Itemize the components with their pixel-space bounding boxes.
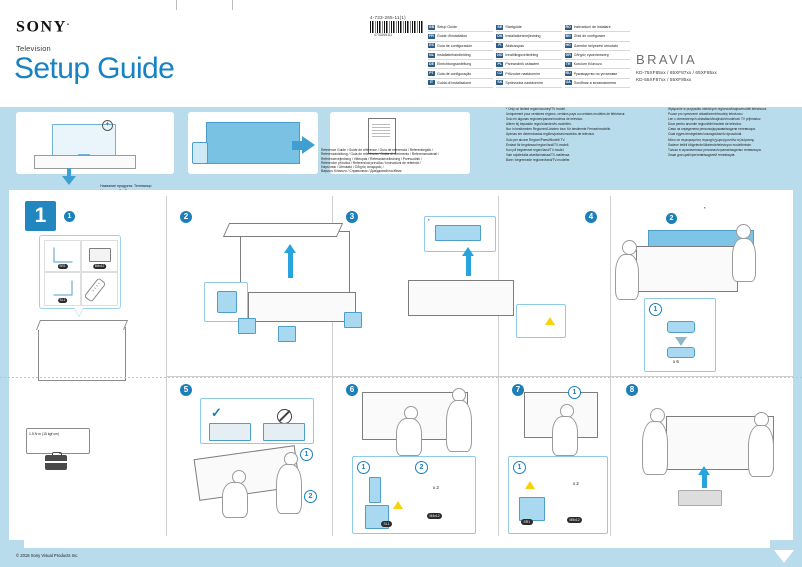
- edge-grip-illustration-bad: [263, 423, 305, 441]
- inset-handling-do-dont: ✓: [200, 398, 314, 444]
- corner-pad: [278, 326, 296, 342]
- dotted-separator: [0, 377, 802, 378]
- language-name: Посібник зі встановлення: [574, 81, 616, 85]
- warning-triangle-icon: [393, 501, 403, 509]
- star-mark-step3: *: [428, 218, 430, 223]
- step-badge-6: 6: [346, 384, 358, 396]
- part-tag: M4x12: [93, 264, 107, 269]
- substep-1-circle: 1: [64, 211, 75, 222]
- footer-white-strip: [24, 540, 770, 548]
- warning-triangle-icon: [545, 317, 555, 325]
- person-body: [615, 254, 639, 300]
- accessory-cell-leg-sr1: SR1: [44, 240, 81, 272]
- language-name: Ghid de configurare: [574, 34, 606, 38]
- language-name: Guide d'installation: [437, 34, 467, 38]
- language-code: NO: [496, 53, 503, 58]
- language-code: SE: [496, 25, 503, 30]
- person-body: [446, 400, 472, 452]
- bravia-wordmark: BRAVIA: [636, 52, 697, 67]
- clip-icon: [667, 347, 695, 358]
- language-code: DK: [496, 34, 503, 39]
- grip-clip-icon: [217, 291, 237, 313]
- language-name: Startguide: [505, 25, 521, 29]
- arrow-right-icon: [302, 136, 315, 154]
- language-row: NLInstallatiehandleiding: [428, 51, 493, 60]
- language-code: ES: [428, 43, 435, 48]
- language-name: Kurulum Kılavuzu: [574, 62, 602, 66]
- column-divider: [498, 196, 499, 536]
- sony-logo: SONY.: [16, 17, 69, 36]
- language-name: Sprievodca nastavením: [505, 81, 543, 85]
- arrow-up-icon-step2: [284, 244, 296, 253]
- language-code: NL: [428, 53, 435, 58]
- screw-count-label-step6: x 2: [433, 485, 439, 490]
- panel-tv-on-cabinet: +: [16, 112, 174, 174]
- substep-1-circle-step7: 1: [568, 386, 581, 399]
- clip-count-label: x 6: [673, 359, 679, 364]
- language-code: PT: [428, 71, 435, 76]
- person-body: [276, 464, 302, 514]
- substep-2-circle-step4: 2: [666, 213, 677, 224]
- language-row: PLPrzewodnik ustawień: [496, 60, 561, 69]
- language-row: TRKurulum Kılavuzu: [565, 60, 630, 69]
- language-row: HGÜzembe helyezési útmutató: [565, 42, 630, 51]
- language-code: CZ: [496, 71, 503, 76]
- substep-3-circle-step7: 1: [513, 461, 526, 474]
- language-name: Installatiehandleiding: [437, 53, 471, 57]
- accessory-cell-remote: [81, 272, 118, 306]
- model-line-1: KD-75XF85xx / 65XF87xx / 65XF85xx: [636, 69, 717, 76]
- language-name: Setup Guide: [437, 25, 457, 29]
- language-code: HG: [565, 43, 572, 48]
- toolbox-icon: [45, 455, 67, 470]
- language-code: RO: [565, 25, 572, 30]
- screw-pack-icon: [89, 248, 111, 262]
- column-divider: [166, 196, 167, 536]
- language-code: UA: [565, 80, 572, 85]
- stand-leg-icon: [369, 477, 381, 503]
- tv-rear-step4: [636, 246, 738, 292]
- substep-1-circle-step4: 1: [649, 303, 662, 316]
- prohibited-icon: [277, 409, 292, 424]
- setup-guide-page: SONY. Television Setup Guide 4-733-265-1…: [0, 0, 802, 567]
- language-name: Guida di installazione: [437, 81, 471, 85]
- step-badge-1: 1: [25, 201, 56, 231]
- language-row: ESGuía de configuración: [428, 42, 493, 51]
- protective-sheet-icon: [435, 225, 481, 241]
- crop-mark-right: [232, 0, 233, 10]
- clip-icon: [667, 321, 695, 333]
- language-name: Einrichtungsanleitung: [437, 62, 471, 66]
- substep-2-circle-step5: 2: [304, 490, 317, 503]
- language-code: BG: [565, 34, 572, 39]
- person-body: [552, 416, 578, 456]
- person-body: [748, 425, 774, 477]
- part-tag: SL1: [58, 298, 68, 303]
- language-row: FIAloitusopas: [496, 42, 561, 51]
- language-row: DKInstallationsvejledning: [496, 32, 561, 41]
- language-code: IT: [428, 80, 435, 85]
- language-name: Przewodnik ustawień: [505, 62, 539, 66]
- language-name: Instrucțiuni de instalare: [574, 25, 611, 29]
- corner-pad: [344, 312, 362, 328]
- checkmark-icon: ✓: [211, 405, 222, 421]
- language-name: Üzembe helyezési útmutató: [574, 44, 618, 48]
- model-numbers: KD-75XF85xx / 65XF87xx / 65XF85xx KD-55X…: [636, 69, 717, 83]
- edge-grip-illustration: [209, 423, 251, 441]
- step-badge-3: 3: [346, 211, 358, 223]
- language-row: ITGuida di installazione: [428, 79, 493, 88]
- stand-leg-icon: [53, 247, 72, 262]
- language-row: ROInstrucțiuni de instalare: [565, 23, 630, 32]
- callout-tail: [74, 307, 84, 316]
- carton-step2: [240, 231, 350, 301]
- language-row: UAПосібник зі встановлення: [565, 79, 630, 88]
- language-code: FI: [496, 43, 503, 48]
- remote-control-icon: [84, 277, 107, 302]
- language-column-1: GBSetup Guide FRGuide d'installation ESG…: [428, 23, 493, 88]
- language-table: GBSetup Guide FRGuide d'installation ESG…: [428, 23, 630, 88]
- foam-pad-step8: [678, 490, 722, 506]
- language-name: Innstillingsveiledning: [505, 53, 538, 57]
- barcode-number: 4733265111: [374, 33, 392, 37]
- part-tag: SR1: [57, 264, 67, 269]
- barcode-icon: [370, 21, 424, 33]
- language-code: RU: [565, 71, 572, 76]
- language-row: PTGuia de configuração: [428, 69, 493, 78]
- carton-illustration: [38, 327, 126, 381]
- arrow-up-stem-step2: [288, 252, 293, 278]
- person-body: [222, 482, 248, 518]
- inset-tilt-warning: [516, 304, 566, 338]
- arrow-down-icon-step4: [675, 337, 687, 346]
- star-mark-step4: *: [704, 206, 706, 211]
- substep-2-circle-step6: 2: [415, 461, 428, 474]
- language-row: FRGuide d'installation: [428, 32, 493, 41]
- language-name: Installationsvejledning: [505, 34, 540, 38]
- language-row: RUРуководство по установке: [565, 69, 630, 78]
- step-badge-8: 8: [626, 384, 638, 396]
- language-row: SKSprievodca nastavením: [496, 79, 561, 88]
- language-code: TR: [565, 62, 572, 67]
- crop-mark-left: [176, 0, 177, 10]
- screw-count-label-step7: x 2: [573, 481, 579, 486]
- torque-note-text: 1.5 N·m (15 kgf·cm): [29, 432, 85, 437]
- cabinet-illustration: [34, 155, 136, 169]
- step-badge-7: 7: [512, 384, 524, 396]
- carton-flap: [36, 320, 128, 330]
- substep-1-circle-step5: 1: [300, 448, 313, 461]
- language-name: Aloitusopas: [505, 44, 524, 48]
- page-turn-arrow-icon: [774, 550, 794, 563]
- tv-rear-step2: [248, 292, 356, 322]
- stand-leg-icon: [519, 497, 545, 521]
- person-body: [396, 418, 422, 456]
- tv-blue-illustration: [206, 122, 300, 164]
- language-row: GRΟδηγός εγκατάστασης: [565, 51, 630, 60]
- model-line-2: KD-55XF87xx / 55XF85xx: [636, 76, 717, 83]
- accessory-cell-screws: M4x12: [81, 240, 118, 272]
- language-row: DEEinrichtungsanleitung: [428, 60, 493, 69]
- note-languages-left: * Only on limited region/country/TV mode…: [506, 107, 666, 163]
- person-head: [622, 240, 637, 255]
- person-body: [732, 238, 756, 282]
- page-title: Setup Guide: [14, 52, 174, 86]
- tv-rear-step3: [408, 280, 514, 316]
- note-languages-right: Wyłącznie w przypadku niektórych regionó…: [668, 107, 800, 158]
- step-badge-5: 5: [180, 384, 192, 396]
- language-code: DE: [428, 62, 435, 67]
- step-badge-2: 2: [180, 211, 192, 223]
- language-code: SK: [496, 80, 503, 85]
- language-name: Οδηγός εγκατάστασης: [574, 53, 610, 57]
- person-head: [736, 224, 751, 239]
- language-column-3: ROInstrucțiuni de instalare BGGhid de co…: [565, 23, 630, 88]
- plant-icon: [192, 142, 208, 164]
- column-divider: [610, 196, 611, 536]
- language-row: CZPrůvodce nastavením: [496, 69, 561, 78]
- part-tag-m4x12: M4x12: [427, 513, 442, 519]
- language-row: NOInnstillingsveiledning: [496, 51, 561, 60]
- language-row: SEStartguide: [496, 23, 561, 32]
- inset-hand-grip-step2: [204, 282, 248, 322]
- warning-triangle-icon: [525, 481, 535, 489]
- plus-icon: +: [102, 120, 113, 131]
- accessory-box: SR1 M4x12 SL1: [39, 235, 121, 309]
- language-name: Guia de configuração: [437, 72, 471, 76]
- language-row: BGGhid de configurare: [565, 32, 630, 41]
- inset-leg-attach-step6: 1 2 SL1 x 2 M4x12: [352, 456, 476, 534]
- part-number: 4-733-265-11(1): [370, 15, 406, 20]
- language-code: PL: [496, 62, 503, 67]
- arrow-up-icon-step3: [462, 247, 474, 256]
- stand-leg-icon: [53, 280, 72, 295]
- person-body: [642, 421, 668, 475]
- arrow-up-icon-step8: [698, 466, 710, 475]
- language-name: Руководство по установке: [574, 72, 618, 76]
- inset-remove-sheet: [424, 216, 496, 252]
- language-code: GR: [565, 53, 572, 58]
- side-band-right: [793, 190, 802, 540]
- part-tag-sr1: SR1: [521, 519, 533, 525]
- inset-clip-detail-step4: 1 x 6: [644, 298, 716, 372]
- language-name: Guía de configuración: [437, 44, 472, 48]
- corner-pad: [238, 318, 256, 334]
- part-tag-sl1: SL1: [381, 521, 392, 527]
- language-code: FR: [428, 34, 435, 39]
- language-code: GB: [428, 25, 435, 30]
- step-badge-4: 4: [585, 211, 597, 223]
- language-name: Průvodce nastavením: [505, 72, 540, 76]
- arrow-up-stem-step3: [466, 254, 471, 276]
- language-column-2: SEStartguide DKInstallationsvejledning F…: [496, 23, 561, 88]
- substep-1-circle-step6: 1: [357, 461, 370, 474]
- carton-lid-step2: [223, 223, 343, 237]
- accessory-cell-leg-sl1: SL1: [44, 272, 81, 306]
- inset-leg-attach-step7: 1 SR1 x 2 M5x12: [508, 456, 608, 534]
- copyright-text: © 2018 Sony Visual Products Inc.: [16, 553, 78, 558]
- language-row: GBSetup Guide: [428, 23, 493, 32]
- side-band-left: [0, 190, 9, 540]
- arrow-down-icon: [62, 176, 76, 185]
- part-tag-m5x12: M5x12: [567, 517, 582, 523]
- reference-guide-languages: Reference Guide / Guide de référence / G…: [321, 148, 501, 174]
